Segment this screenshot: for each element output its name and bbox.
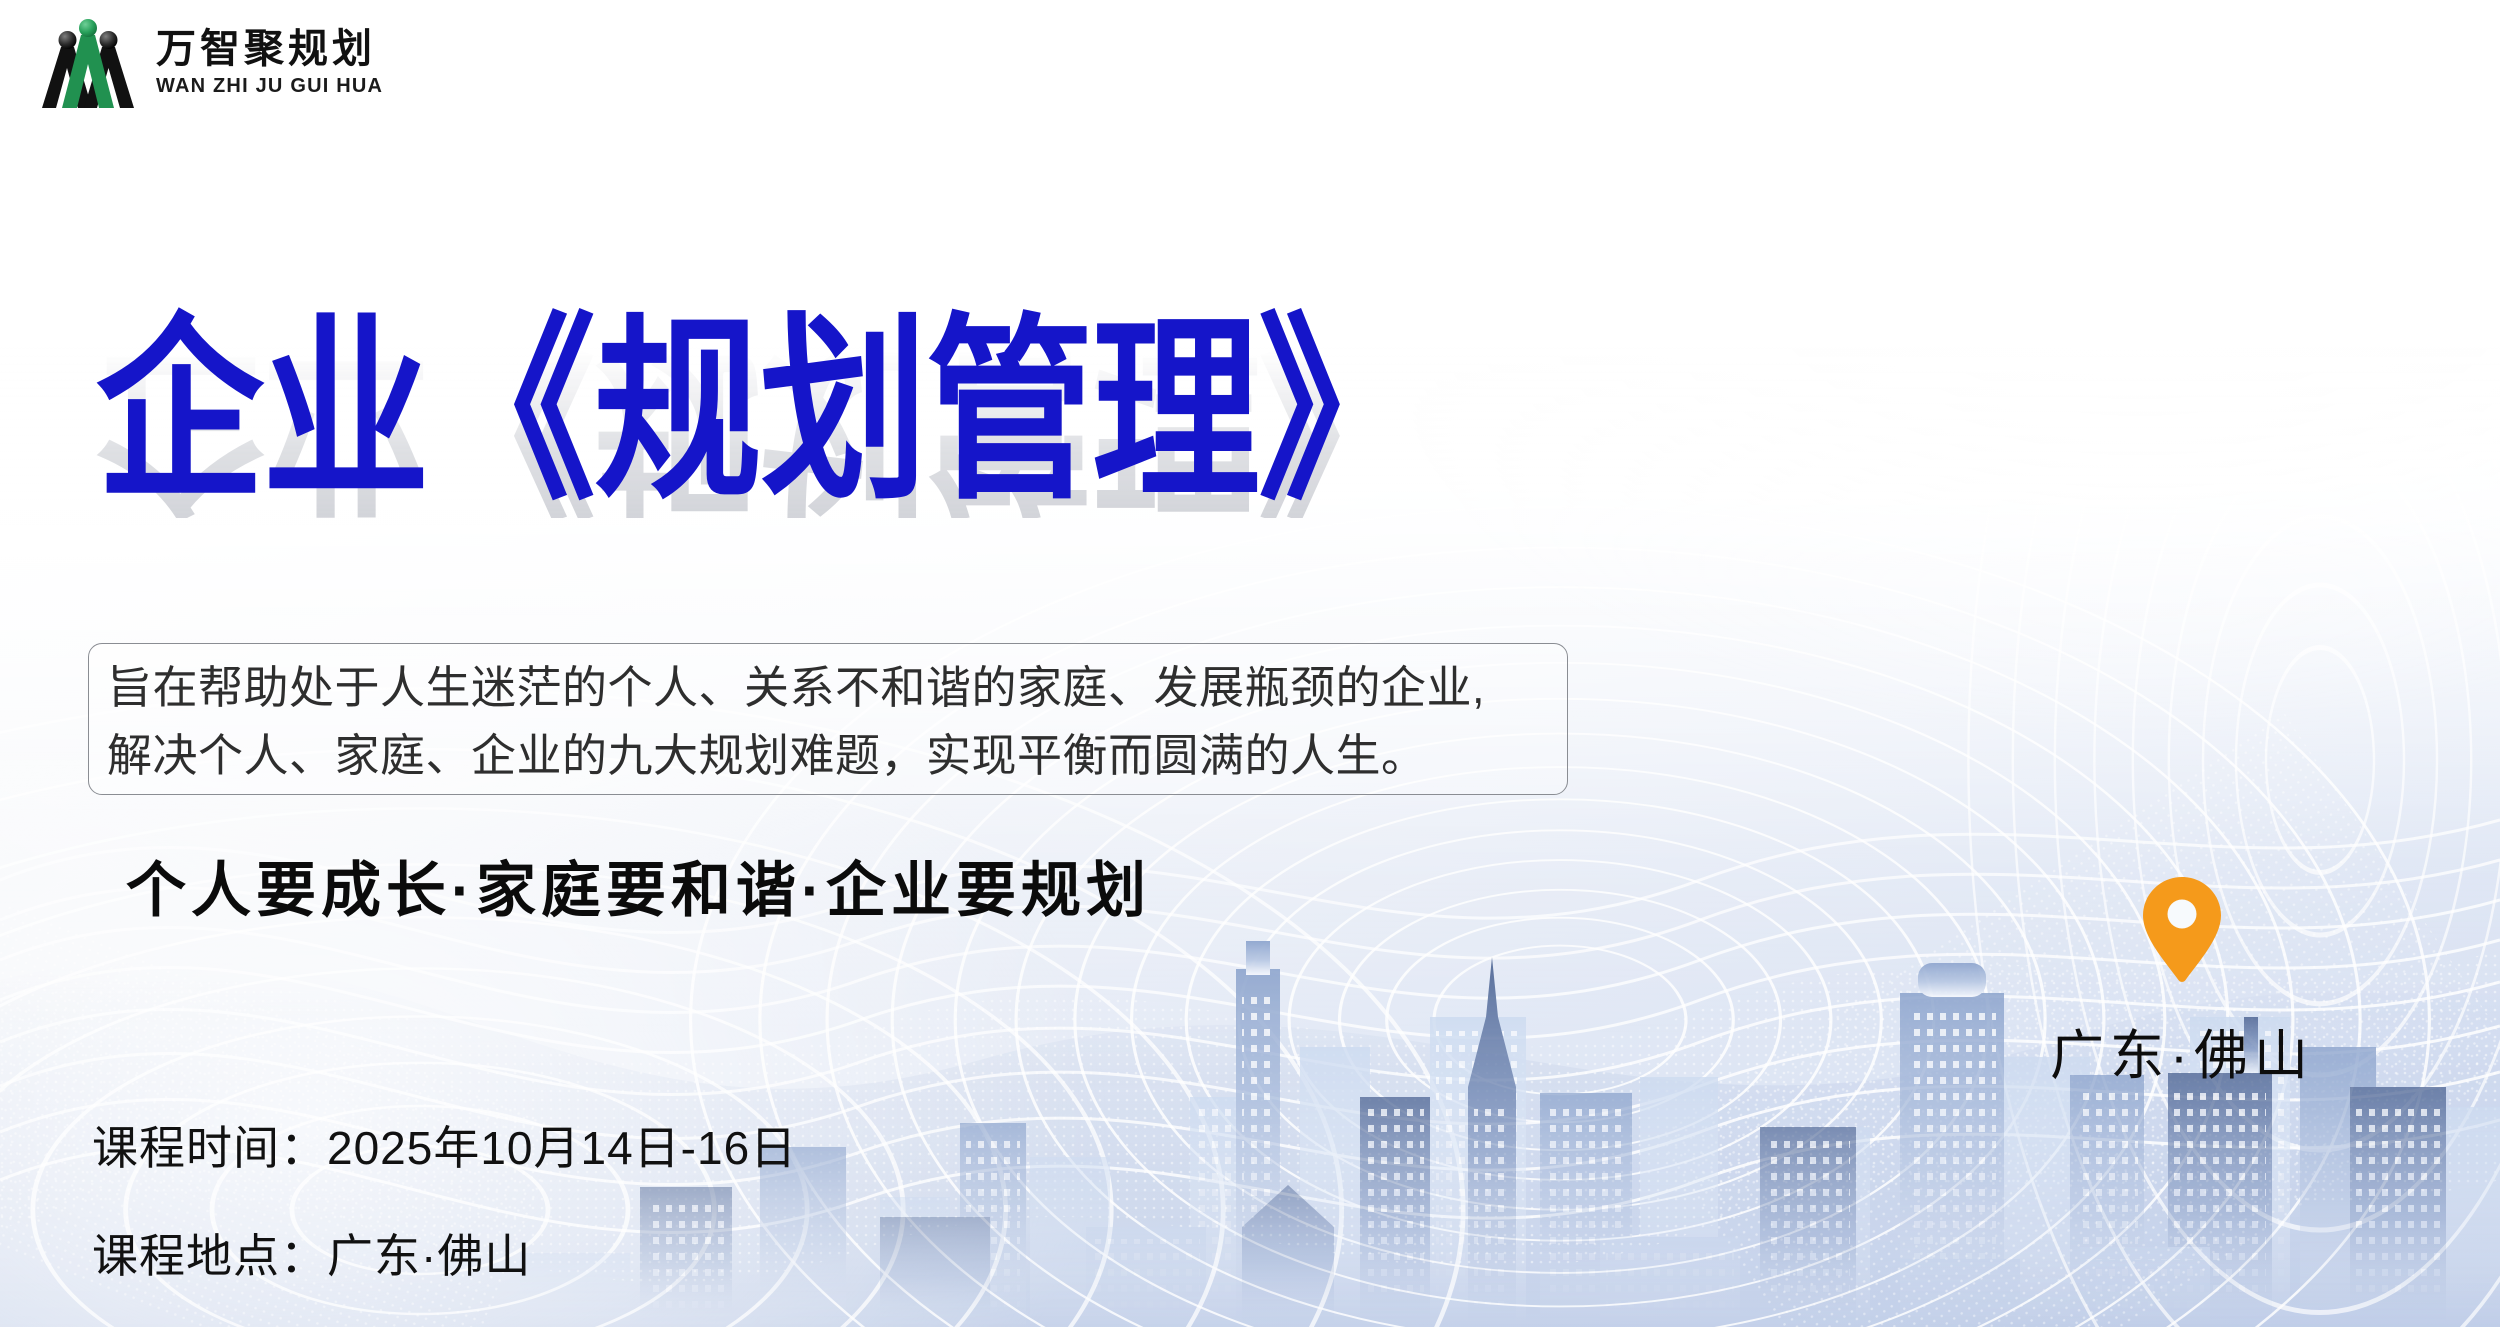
map-pin-icon bbox=[2140, 875, 2224, 983]
description-line-1: 旨在帮助处于人生迷茫的个人、关系不和谐的家庭、发展瓶颈的企业, bbox=[107, 654, 1549, 722]
brand-name-en: WAN ZHI JU GUI HUA bbox=[156, 76, 383, 96]
page-title: 企业《规划管理》 bbox=[96, 312, 1656, 510]
main-title-area: 企业《规划管理》 企业《规划管理》 bbox=[96, 312, 1656, 642]
three-people-m-logo-icon bbox=[34, 16, 142, 108]
brand-name-cn: 万智聚规划 bbox=[156, 29, 383, 69]
course-place-line: 课程地点：广东·佛山 bbox=[92, 1220, 797, 1286]
description-box: 旨在帮助处于人生迷茫的个人、关系不和谐的家庭、发展瓶颈的企业, 解决个人、家庭、… bbox=[88, 643, 1568, 795]
location-block: 广东·佛山 bbox=[2050, 875, 2314, 1090]
course-time-line: 课程时间：2025年10月14日-16日 bbox=[92, 1112, 797, 1178]
brand-logo: 万智聚规划 WAN ZHI JU GUI HUA bbox=[34, 16, 383, 108]
location-label: 广东·佛山 bbox=[2050, 1011, 2314, 1090]
description-line-2: 解决个人、家庭、企业的九大规划难题，实现平衡而圆满的人生。 bbox=[107, 722, 1549, 790]
slogan-text: 个人要成长·家庭要和谐·企业要规划 bbox=[126, 842, 1151, 929]
course-poster: 万智聚规划 WAN ZHI JU GUI HUA 企业《规划管理》 企业《规划管… bbox=[0, 0, 2500, 1327]
course-info-block: 课程时间：2025年10月14日-16日 课程地点：广东·佛山 bbox=[92, 1112, 797, 1286]
